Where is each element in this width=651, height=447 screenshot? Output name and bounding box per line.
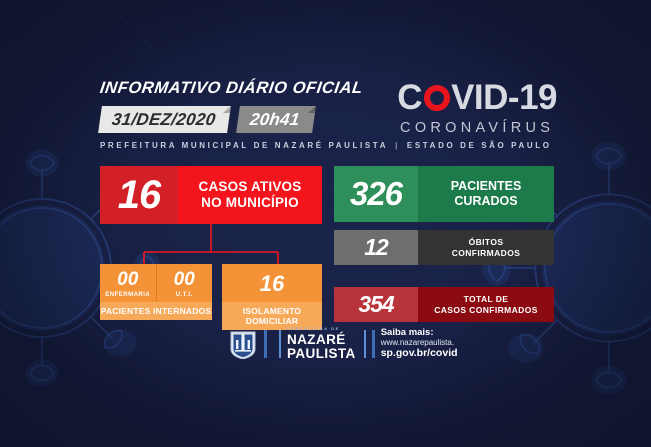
icu-label: U.T.I. (176, 292, 193, 298)
covid-logo-o-ring-icon (424, 85, 450, 111)
total-cases-label: TOTAL DE CASOS CONFIRMADOS (418, 287, 554, 322)
ward-label: ENFERMARIA (105, 292, 150, 298)
city-brand-prefix: PREFEITURA DE (287, 327, 356, 331)
deaths-value: 12 (334, 230, 418, 265)
footer-divider-1 (264, 330, 267, 358)
total-cases-card: 354 TOTAL DE CASOS CONFIRMADOS (334, 287, 554, 322)
icu-value: 00 (174, 270, 195, 289)
city-crest-icon (228, 329, 258, 359)
icu-cell: 00 U.T.I. (156, 264, 213, 302)
subtitle-separator: | (388, 141, 407, 150)
recovered-label-line2: CURADOS (454, 194, 517, 209)
active-cases-label-line2: NO MUNICÍPIO (201, 195, 299, 211)
total-cases-value: 354 (334, 287, 418, 322)
orange-cards-row: 00 ENFERMARIA 00 U.T.I. PACIENTES INTERN… (100, 264, 322, 330)
active-cases-value: 16 (100, 166, 178, 224)
hospitalized-values: 00 ENFERMARIA 00 U.T.I. (100, 264, 212, 302)
deaths-card: 12 ÓBITOS CONFIRMADOS (334, 230, 554, 265)
subtitle-municipality: PREFEITURA MUNICIPAL DE NAZARÉ PAULISTA (100, 141, 388, 150)
covid-logo-c: C (397, 80, 422, 115)
header-subtitle: PREFEITURA MUNICIPAL DE NAZARÉ PAULISTA|… (100, 141, 555, 150)
isolation-value: 16 (260, 273, 284, 295)
footer-divider-3 (364, 330, 367, 358)
city-brand-name-line1: NAZARÉ (287, 333, 356, 347)
footer: PREFEITURA DE NAZARÉ PAULISTA Saiba mais… (228, 328, 458, 360)
more-info-block[interactable]: Saiba mais: www.nazarepaulista. sp.gov.b… (381, 328, 458, 359)
hospitalized-footer: PACIENTES INTERNADOS (100, 302, 212, 320)
isolation-values: 16 (222, 264, 322, 302)
footer-divider-4 (372, 330, 375, 358)
deaths-label-line2: CONFIRMADOS (452, 248, 521, 258)
covid-logo-subtitle: CORONAVÍRUS (397, 120, 557, 136)
covid-logo: C VID-19 CORONAVÍRUS (397, 80, 557, 136)
city-brand-name-line2: PAULISTA (287, 347, 356, 361)
recovered-label: PACIENTES CURADOS (418, 166, 554, 222)
date-badge: 31/DEZ/2020 (98, 106, 231, 133)
hospitalized-card: 00 ENFERMARIA 00 U.T.I. PACIENTES INTERN… (100, 264, 212, 330)
total-cases-label-line2: CASOS CONFIRMADOS (434, 305, 538, 315)
recovered-card: 326 PACIENTES CURADOS (334, 166, 554, 222)
connector-bracket (100, 224, 322, 266)
total-cases-label-line1: TOTAL DE (464, 294, 509, 304)
covid-logo-main: C VID-19 (397, 80, 557, 115)
time-badge: 20h41 (237, 106, 316, 133)
active-cases-card: 16 CASOS ATIVOS NO MUNICÍPIO (100, 166, 322, 224)
subtitle-state: ESTADO DE SÃO PAULO (407, 141, 552, 150)
date-badge-label: 31/DEZ/2020 (111, 110, 217, 130)
covid-logo-rest: VID-19 (451, 80, 557, 115)
time-badge-label: 20h41 (249, 110, 302, 130)
isolation-cell: 16 (222, 264, 322, 302)
recovered-value: 326 (334, 166, 418, 222)
isolation-card: 16 ISOLAMENTO DOMICILIAR (222, 264, 322, 330)
more-info-url-line2[interactable]: sp.gov.br/covid (381, 348, 458, 360)
deaths-label-line1: ÓBITOS (469, 237, 504, 247)
left-column: 16 CASOS ATIVOS NO MUNICÍPIO (100, 166, 322, 224)
ward-cell: 00 ENFERMARIA (100, 264, 156, 302)
active-cases-label-line1: CASOS ATIVOS (199, 179, 302, 195)
right-column: 326 PACIENTES CURADOS 12 ÓBITOS CONFIRMA… (334, 166, 554, 330)
city-brand: PREFEITURA DE NAZARÉ PAULISTA (287, 327, 356, 362)
deaths-label: ÓBITOS CONFIRMADOS (418, 230, 554, 265)
recovered-label-line1: PACIENTES (451, 179, 522, 194)
footer-divider-2 (279, 330, 282, 358)
ward-value: 00 (117, 270, 138, 289)
active-cases-label: CASOS ATIVOS NO MUNICÍPIO (178, 166, 322, 224)
